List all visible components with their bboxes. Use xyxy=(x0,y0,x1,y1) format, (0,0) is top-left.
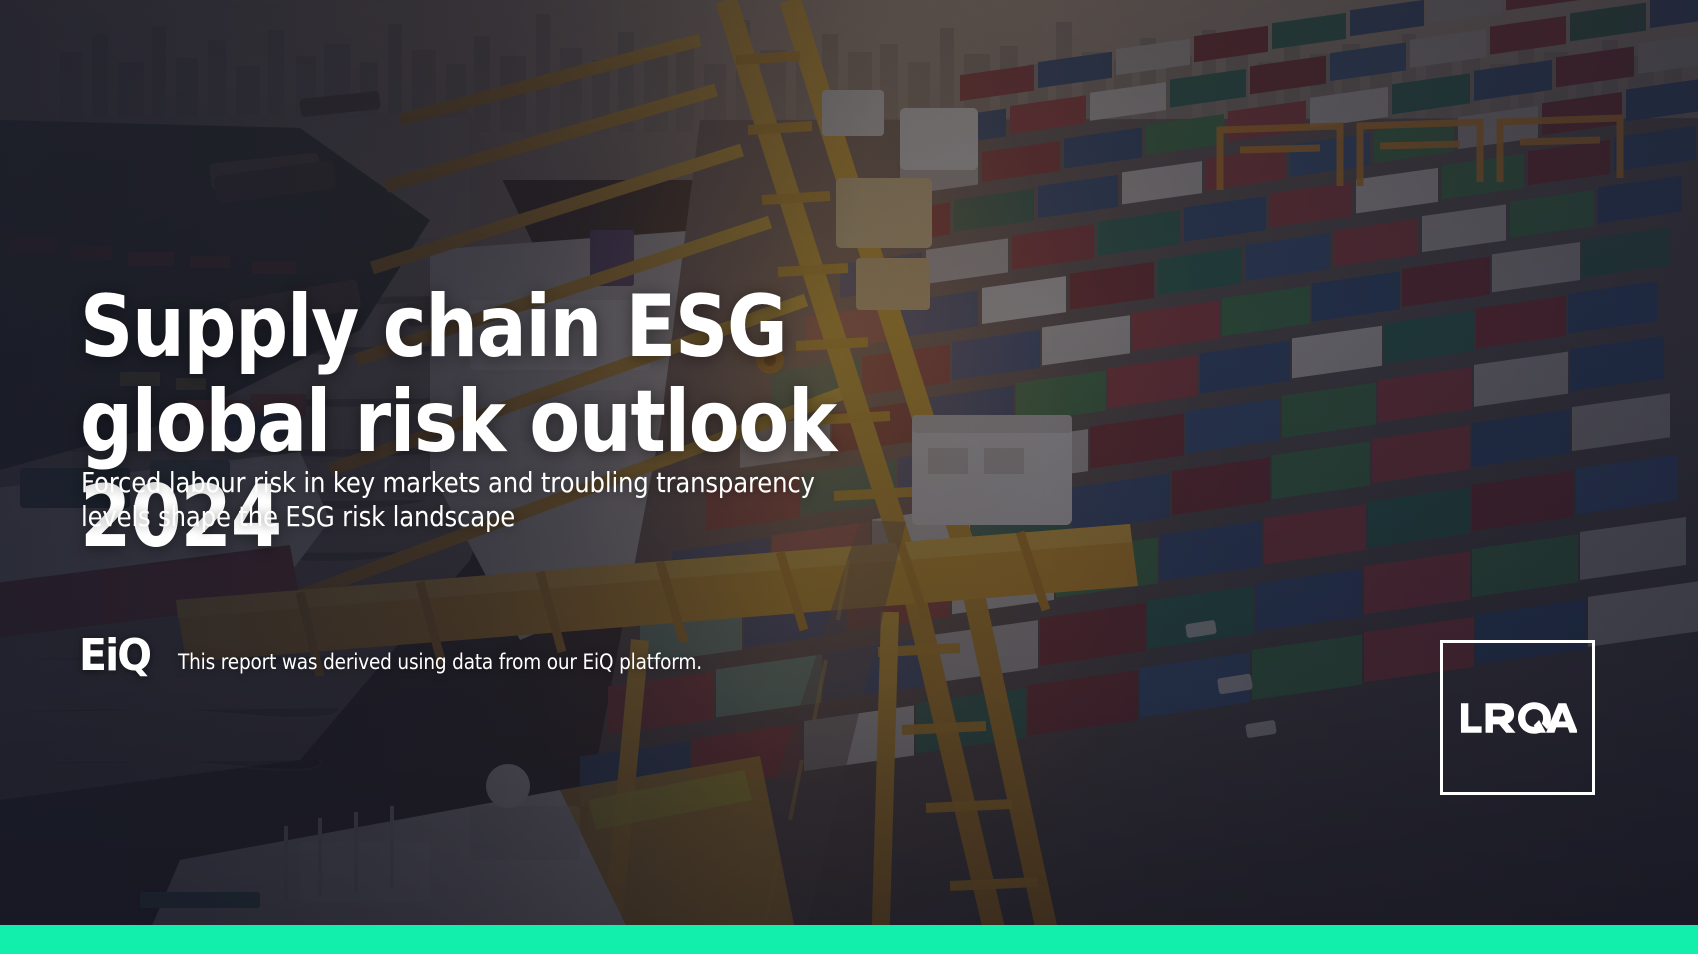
eiq-attribution: EiQ This report was derived using data f… xyxy=(79,634,773,678)
page-subtitle: Forced labour risk in key markets and tr… xyxy=(81,466,847,534)
bottom-accent-bar xyxy=(0,925,1698,954)
eiq-logo-icon: EiQ xyxy=(79,634,150,678)
lrqa-logo-frame xyxy=(1440,640,1595,795)
report-cover-page: Supply chain ESG global risk outlook 202… xyxy=(0,0,1698,954)
lrqa-logo-icon xyxy=(1459,698,1577,738)
eiq-attribution-text: This report was derived using data from … xyxy=(178,650,702,678)
cover-content: Supply chain ESG global risk outlook 202… xyxy=(0,0,1698,954)
